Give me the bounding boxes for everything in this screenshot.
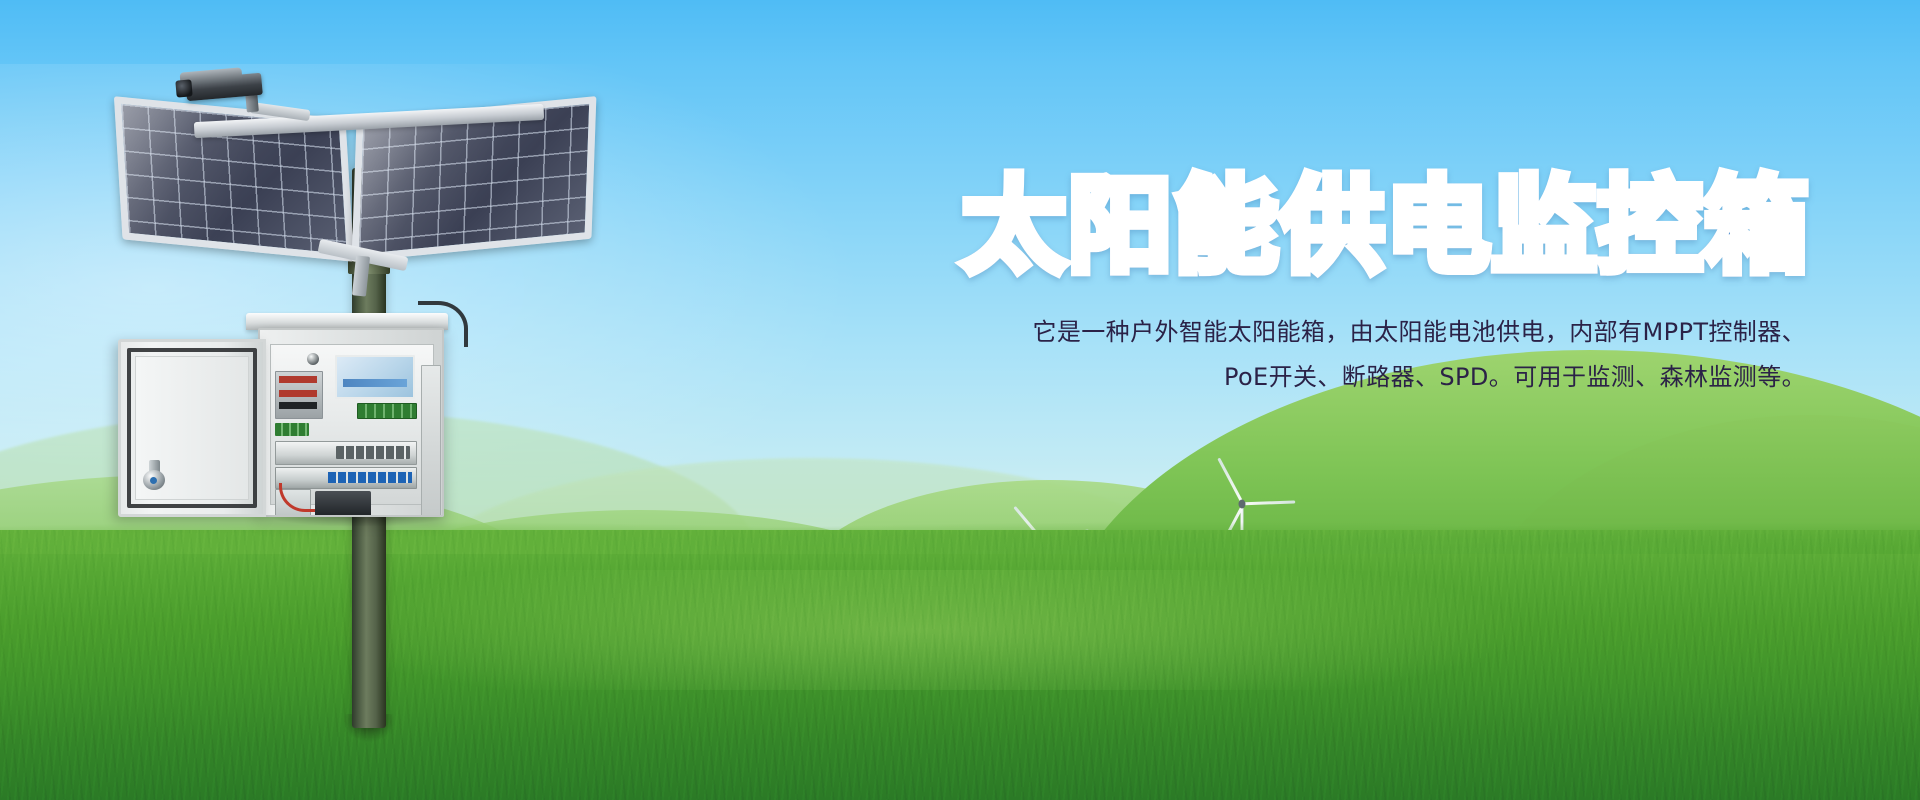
din-rail-column: [421, 365, 441, 517]
grass-texture: [0, 530, 1920, 800]
mppt-controller-display: [335, 355, 415, 399]
cabinet-door: [118, 339, 266, 517]
solar-panel-array: [118, 108, 588, 278]
banner-text-block: 太阳能供电监控箱 它是一种户外智能太阳能箱，由太阳能电池供电，内部有MPPT控制…: [640, 168, 1820, 399]
green-terminal-strip: [357, 403, 417, 419]
cabinet-enclosure: [258, 328, 444, 517]
poe-switch-ports: [336, 446, 410, 459]
solar-monitoring-cabinet-banner: 太阳能供电监控箱 它是一种户外智能太阳能箱，由太阳能电池供电，内部有MPPT控制…: [0, 0, 1920, 800]
camera-lens: [175, 79, 192, 97]
banner-subtitle-line-2: PoE开关、断路器、SPD。可用于监测、森林监测等。: [640, 355, 1806, 399]
poe-switch: [275, 441, 417, 465]
green-terminal-strip-small: [275, 423, 309, 436]
cabinet-interior: [270, 344, 434, 505]
security-camera-icon: [168, 62, 298, 124]
banner-headline: 太阳能供电监控箱: [640, 168, 1820, 284]
solar-power-cabinet: [118, 313, 448, 518]
lock-keyhole: [150, 477, 157, 484]
terminal-block: [275, 371, 323, 419]
cabinet-lock-icon: [143, 460, 165, 490]
indicator-light-icon: [307, 353, 319, 365]
banner-subtitle-line-1: 它是一种户外智能太阳能箱，由太阳能电池供电，内部有MPPT控制器、: [640, 310, 1806, 354]
banner-subtitle: 它是一种户外智能太阳能箱，由太阳能电池供电，内部有MPPT控制器、 PoE开关、…: [640, 310, 1820, 399]
network-switch-ports: [328, 472, 412, 483]
yellow-wire: [285, 513, 337, 517]
